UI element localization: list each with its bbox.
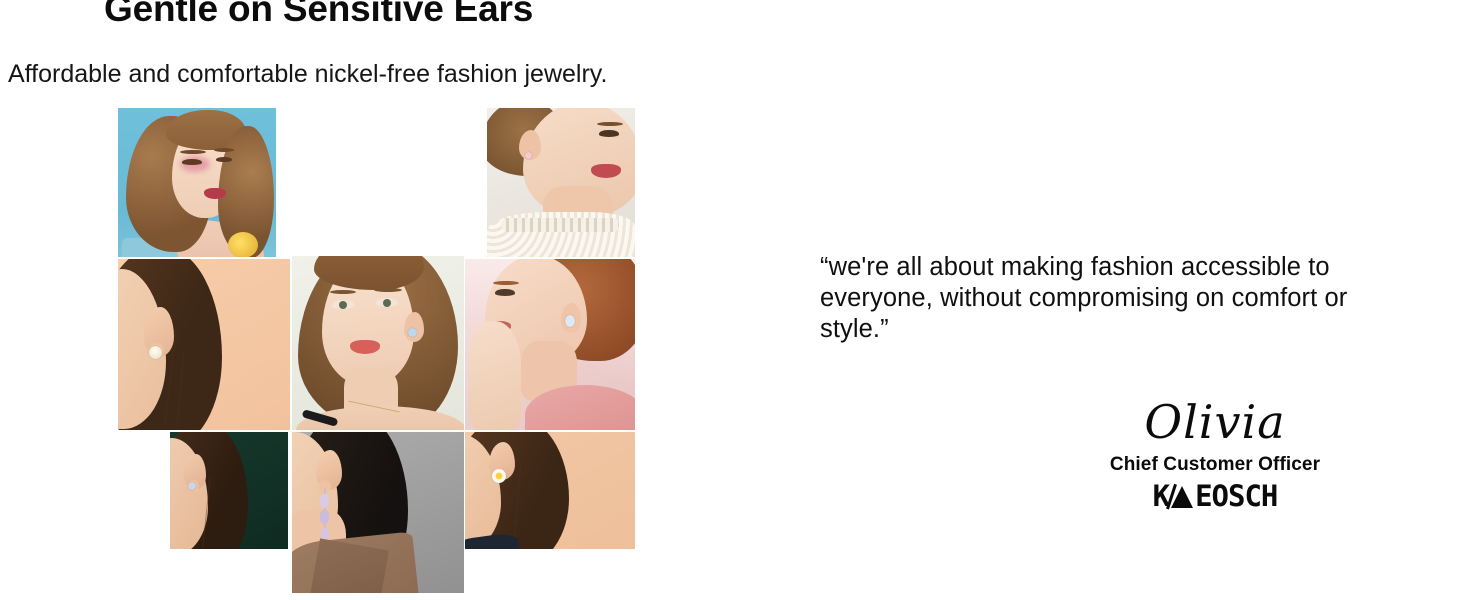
ear-daisy-stud-peach-photo <box>465 432 635 549</box>
ear-stud-dark-green-photo <box>170 432 288 549</box>
ear-flower-stud-peach-photo <box>118 259 290 430</box>
model-hand-to-cheek-pink-photo <box>465 259 635 430</box>
model-blue-backdrop-photo <box>118 108 276 257</box>
signature-role: Chief Customer Officer <box>1020 452 1410 478</box>
signature-block: Olivia Chief Customer Officer K EOSCH <box>1020 396 1410 511</box>
photo-collage <box>0 0 660 600</box>
model-front-portrait-photo <box>292 256 464 430</box>
signature-name: Olivia <box>1020 396 1410 448</box>
brand-logo: K EOSCH <box>1020 481 1410 511</box>
ear-drop-earring-grey-photo <box>292 432 464 593</box>
brand-logo-triangle-a-icon <box>1169 483 1195 509</box>
model-smiling-pearl-collar-photo <box>487 108 635 257</box>
brand-logo-suffix: EOSCH <box>1195 482 1277 511</box>
testimonial-quote: “we're all about making fashion accessib… <box>820 252 1420 345</box>
